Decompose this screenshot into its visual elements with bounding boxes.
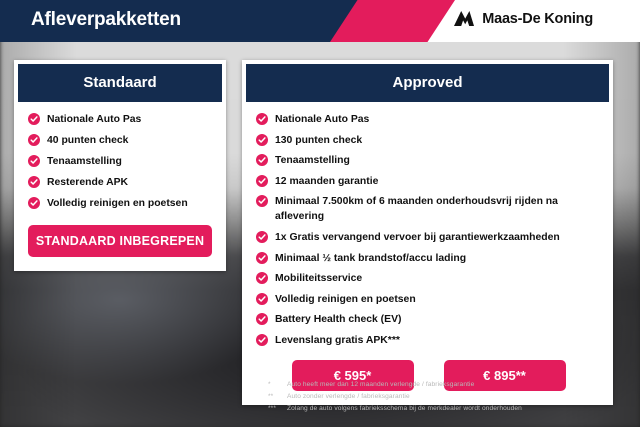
check-circle-icon	[256, 195, 268, 207]
check-circle-icon	[28, 113, 40, 125]
feature-label: Volledig reinigen en poetsen	[275, 292, 416, 307]
footnote-mark: ***	[268, 403, 281, 415]
page-title: Afleverpakketten	[31, 9, 181, 31]
check-circle-icon	[28, 134, 40, 146]
check-circle-icon	[256, 334, 268, 346]
list-item: 40 punten check	[28, 133, 212, 148]
brand-name: Maas-De Koning	[482, 11, 593, 27]
standard-card-body: Nationale Auto Pas 40 punten check Tenaa…	[14, 102, 226, 271]
list-item: Tenaamstelling	[256, 153, 601, 168]
brand-logo: Maas-De Koning	[453, 10, 593, 27]
check-circle-icon	[256, 272, 268, 284]
feature-label: Nationale Auto Pas	[275, 112, 369, 127]
check-circle-icon	[256, 252, 268, 264]
footnote-item: * Auto heeft meer dan 12 maanden verleng…	[268, 379, 618, 391]
approved-card-body: Nationale Auto Pas 130 punten check Tena…	[242, 102, 613, 405]
feature-label: Tenaamstelling	[275, 153, 350, 168]
page-header: Afleverpakketten Maas-De Koning	[0, 0, 640, 42]
list-item: Tenaamstelling	[28, 154, 212, 169]
footnote-text: Auto zonder verlengde / fabrieksgarantie	[287, 391, 410, 403]
footnotes: * Auto heeft meer dan 12 maanden verleng…	[268, 379, 618, 416]
standard-package-card: Standaard Nationale Auto Pas 40 punten c…	[14, 60, 226, 271]
footnote-item: ** Auto zonder verlengde / fabrieksgaran…	[268, 391, 618, 403]
standard-card-heading: Standaard	[18, 64, 222, 102]
feature-label: Resterende APK	[47, 175, 128, 190]
check-circle-icon	[256, 113, 268, 125]
feature-label: 130 punten check	[275, 133, 362, 148]
approved-card-heading: Approved	[246, 64, 609, 102]
list-item: Nationale Auto Pas	[256, 112, 601, 127]
list-item: Battery Health check (EV)	[256, 312, 601, 327]
feature-label: Levenslang gratis APK***	[275, 333, 400, 348]
approved-feature-list: Nationale Auto Pas 130 punten check Tena…	[256, 112, 601, 348]
feature-label: Nationale Auto Pas	[47, 112, 141, 127]
check-circle-icon	[256, 175, 268, 187]
check-circle-icon	[256, 134, 268, 146]
check-circle-icon	[28, 176, 40, 188]
feature-label: Battery Health check (EV)	[275, 312, 401, 327]
list-item: Minimaal ½ tank brandstof/accu lading	[256, 251, 601, 266]
feature-label: 12 maanden garantie	[275, 174, 378, 189]
check-circle-icon	[256, 313, 268, 325]
feature-label: Mobiliteitsservice	[275, 271, 362, 286]
list-item: 130 punten check	[256, 133, 601, 148]
check-circle-icon	[256, 231, 268, 243]
list-item: 1x Gratis vervangend vervoer bij garanti…	[256, 230, 601, 245]
feature-label: Tenaamstelling	[47, 154, 122, 169]
list-item: Levenslang gratis APK***	[256, 333, 601, 348]
check-circle-icon	[28, 197, 40, 209]
list-item: Volledig reinigen en poetsen	[28, 196, 212, 211]
list-item: 12 maanden garantie	[256, 174, 601, 189]
list-item: Mobiliteitsservice	[256, 271, 601, 286]
feature-label: 1x Gratis vervangend vervoer bij garanti…	[275, 230, 560, 245]
feature-label: Volledig reinigen en poetsen	[47, 196, 188, 211]
afleverpakketten-poster: Afleverpakketten Maas-De Koning Standaar…	[0, 0, 640, 427]
standaard-inbegrepen-button[interactable]: STANDAARD INBEGREPEN	[28, 225, 212, 257]
check-circle-icon	[28, 155, 40, 167]
footnote-item: *** Zolang de auto volgens fabrieksschem…	[268, 403, 618, 415]
approved-package-card: Approved Nationale Auto Pas 130 punten c…	[242, 60, 613, 405]
feature-label: Minimaal 7.500km of 6 maanden onderhouds…	[275, 194, 601, 224]
check-circle-icon	[256, 154, 268, 166]
list-item: Nationale Auto Pas	[28, 112, 212, 127]
check-circle-icon	[256, 293, 268, 305]
feature-label: Minimaal ½ tank brandstof/accu lading	[275, 251, 466, 266]
list-item: Minimaal 7.500km of 6 maanden onderhouds…	[256, 194, 601, 224]
list-item: Resterende APK	[28, 175, 212, 190]
footnote-text: Auto heeft meer dan 12 maanden verlengde…	[287, 379, 474, 391]
list-item: Volledig reinigen en poetsen	[256, 292, 601, 307]
footnote-mark: **	[268, 391, 281, 403]
footnote-mark: *	[268, 379, 281, 391]
footnote-text: Zolang de auto volgens fabrieksschema bi…	[287, 403, 522, 415]
standard-feature-list: Nationale Auto Pas 40 punten check Tenaa…	[28, 112, 212, 211]
feature-label: 40 punten check	[47, 133, 128, 148]
maas-de-koning-m-logo-icon	[453, 10, 475, 27]
